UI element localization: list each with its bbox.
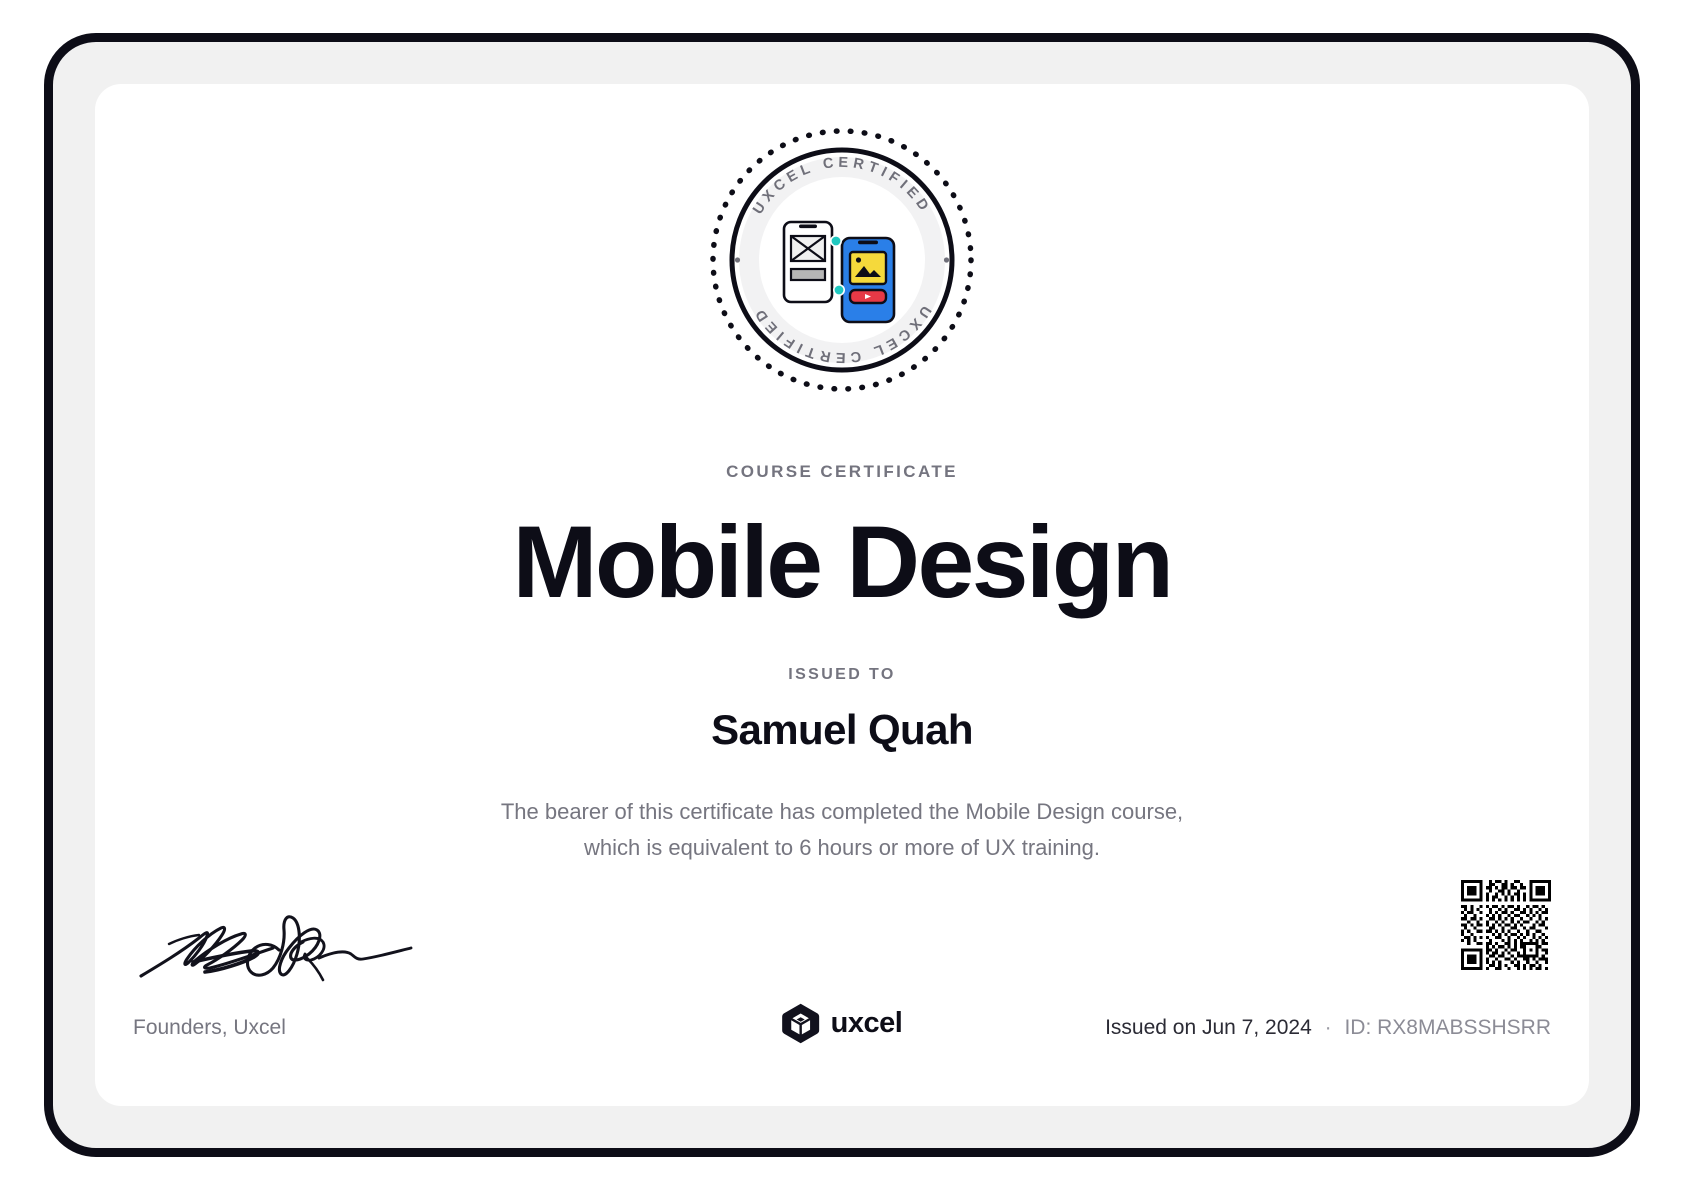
wireframe-phone-notch: [799, 225, 817, 229]
designed-image-block: [850, 252, 886, 284]
recipient-name: Samuel Quah: [95, 706, 1589, 754]
teal-handle-bottom: [834, 285, 844, 295]
description-line-1: The bearer of this certificate has compl…: [95, 794, 1589, 830]
certificate-frame: UXCEL CERTIFIED UXCEL CERTIFIED: [44, 33, 1640, 1157]
designed-image-sun: [856, 257, 861, 262]
signature-role-label: Founders, Uxcel: [133, 1016, 286, 1040]
certificate-card: UXCEL CERTIFIED UXCEL CERTIFIED: [95, 84, 1589, 1106]
wireframe-button: [791, 269, 825, 280]
badge-ring-bullet-right: [944, 257, 949, 262]
uxcel-brand-lockup: uxcel: [782, 1003, 903, 1044]
teal-handle-top: [831, 236, 841, 246]
designed-phone-notch: [858, 241, 878, 245]
uxcel-brand-name: uxcel: [831, 1007, 903, 1040]
issued-on-date: Issued on Jun 7, 2024: [1105, 1016, 1312, 1039]
certificate-id: ID: RX8MABSSHSRR: [1344, 1016, 1551, 1039]
certificate-description: The bearer of this certificate has compl…: [95, 794, 1589, 865]
issue-info: Issued on Jun 7, 2024 · ID: RX8MABSSHSRR: [1105, 1016, 1551, 1040]
issued-to-label: ISSUED TO: [95, 666, 1589, 684]
eyebrow-label: COURSE CERTIFICATE: [95, 462, 1589, 482]
issue-info-separator: ·: [1325, 1016, 1332, 1039]
badge-ring-bullet-left: [735, 257, 740, 262]
signature-image: [133, 902, 433, 988]
page-title: Mobile Design: [95, 504, 1589, 621]
description-line-2: which is equivalent to 6 hours or more o…: [95, 830, 1589, 866]
certified-badge: UXCEL CERTIFIED UXCEL CERTIFIED: [706, 124, 978, 396]
verification-qr-code[interactable]: [1461, 880, 1551, 970]
uxcel-hexagon-cube-logo-icon: [782, 1003, 820, 1044]
